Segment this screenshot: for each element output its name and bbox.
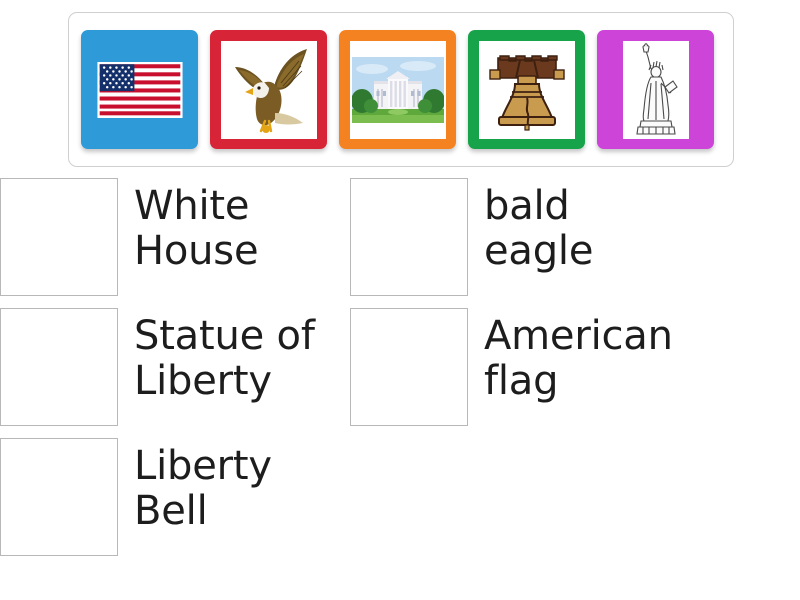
dropbox-american-flag[interactable] [350, 308, 468, 426]
dropbox-liberty-bell[interactable] [0, 438, 118, 556]
answer-label-bald-eagle: bald eagle [468, 178, 593, 274]
tile-inner-bald-eagle [221, 41, 317, 139]
activity-page: White House Statue of Liberty Liberty Be… [0, 0, 800, 600]
dropbox-statue-of-liberty[interactable] [0, 308, 118, 426]
dropbox-bald-eagle[interactable] [350, 178, 468, 296]
answer-label-statue-of-liberty: Statue of Liberty [118, 308, 315, 404]
tile-inner-liberty-bell [479, 41, 575, 139]
answer-label-american-flag: American flag [468, 308, 673, 404]
answer-row-statue-of-liberty: Statue of Liberty [0, 308, 400, 438]
dropbox-white-house[interactable] [0, 178, 118, 296]
draggable-tile-bald-eagle[interactable] [210, 30, 327, 149]
answer-label-white-house: White House [118, 178, 258, 274]
bald-eagle-icon [223, 43, 315, 137]
liberty-bell-icon [482, 44, 572, 136]
draggable-tile-statue-of-liberty[interactable] [597, 30, 714, 149]
answer-row-liberty-bell: Liberty Bell [0, 438, 400, 568]
image-tile-tray [68, 12, 734, 167]
draggable-tile-american-flag[interactable] [81, 30, 198, 149]
answer-column-left: White House Statue of Liberty Liberty Be… [0, 178, 400, 568]
tile-inner-white-house [350, 41, 446, 139]
white-house-icon [352, 57, 444, 123]
draggable-tile-white-house[interactable] [339, 30, 456, 149]
american-flag-icon [97, 62, 183, 118]
answer-row-bald-eagle: bald eagle [350, 178, 750, 308]
answer-label-liberty-bell: Liberty Bell [118, 438, 272, 534]
statue-of-liberty-icon [627, 43, 685, 137]
answer-row-white-house: White House [0, 178, 400, 308]
draggable-tile-liberty-bell[interactable] [468, 30, 585, 149]
answer-row-american-flag: American flag [350, 308, 750, 438]
answer-column-right: bald eagle American flag [350, 178, 750, 438]
tile-inner-statue-of-liberty [623, 41, 689, 139]
